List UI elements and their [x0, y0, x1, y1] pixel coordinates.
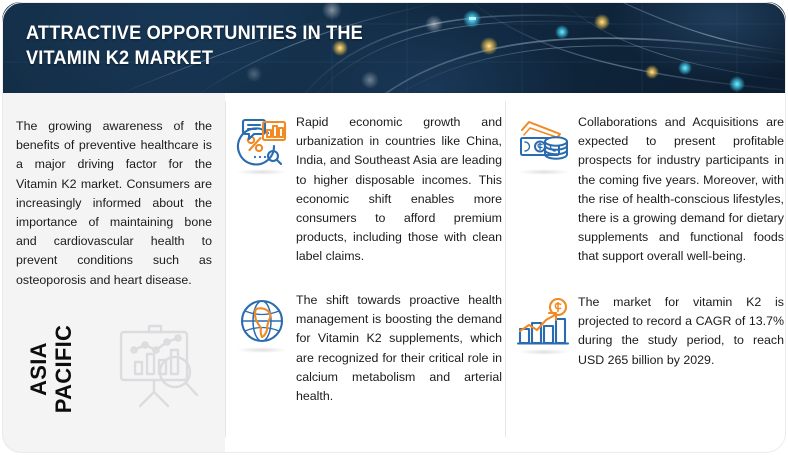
body-area: The growing awareness of the benefits of… [2, 93, 786, 453]
left-column-paragraph: The growing awareness of the benefits of… [16, 117, 212, 290]
right-column: Collaborations and Acquisitions are expe… [506, 93, 786, 453]
globe-icon [230, 291, 294, 355]
middle-block-2-text: The shift towards proactive health manag… [296, 291, 502, 406]
right-block-1: Collaborations and Acquisitions are expe… [512, 113, 784, 267]
left-column: The growing awareness of the benefits of… [2, 93, 225, 453]
middle-block-1: Rapid economic growth and urbanization i… [230, 113, 502, 267]
region-block: ASIA PACIFIC [2, 298, 225, 453]
page-title: ATTRACTIVE OPPORTUNITIES IN THE VITAMIN … [26, 21, 417, 71]
presentation-chart-magnifier-icon [109, 316, 205, 412]
icon-shadow [236, 169, 288, 175]
infographic-root: ATTRACTIVE OPPORTUNITIES IN THE VITAMIN … [0, 0, 788, 455]
economic-growth-analytics-icon [230, 113, 294, 177]
growth-bar-chart-dollar-icon [512, 293, 576, 357]
region-label: ASIA PACIFIC [26, 313, 76, 425]
money-cash-coins-icon [512, 113, 576, 177]
right-block-2: The market for vitamin K2 is projected t… [512, 293, 784, 370]
icon-shadow [518, 169, 570, 175]
right-block-2-text: The market for vitamin K2 is projected t… [578, 293, 784, 370]
middle-block-2: The shift towards proactive health manag… [230, 291, 502, 406]
header-banner: ATTRACTIVE OPPORTUNITIES IN THE VITAMIN … [2, 2, 786, 93]
icon-shadow [518, 349, 570, 355]
right-block-1-text: Collaborations and Acquisitions are expe… [578, 113, 784, 267]
middle-block-1-text: Rapid economic growth and urbanization i… [296, 113, 502, 267]
icon-shadow [236, 347, 288, 353]
middle-column: Rapid economic growth and urbanization i… [226, 93, 505, 453]
